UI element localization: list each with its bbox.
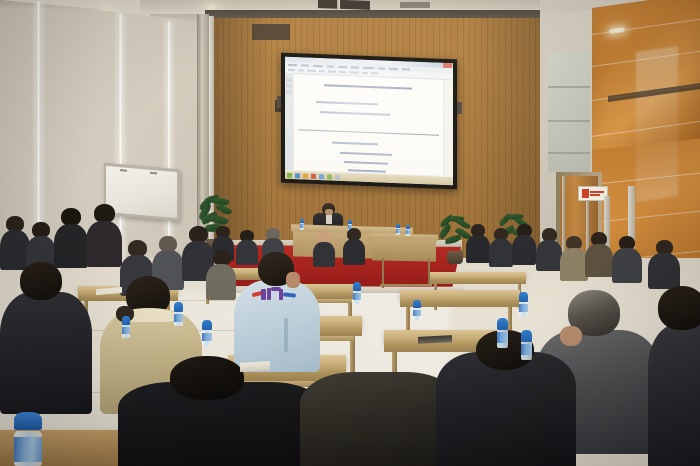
water-bottle: [122, 316, 130, 338]
sm-logo: [252, 286, 298, 302]
presenter-shirt: [326, 214, 332, 224]
attendee: [612, 236, 642, 282]
attendee-blue-jacket: [226, 252, 322, 370]
attendee: [489, 228, 513, 266]
sign-text-lines: [590, 191, 604, 195]
water-bottle: [497, 318, 508, 348]
slide-text-line: [320, 111, 390, 116]
slide-text-line: [324, 84, 412, 90]
whiteboard-clip-icon: [150, 172, 157, 175]
attendee-dark-suit: [0, 262, 96, 412]
water-bottle: [396, 224, 400, 235]
podium-stretcher: [380, 284, 432, 286]
attendee: [466, 224, 490, 262]
back-wall-dark-panel: [252, 24, 290, 40]
attendee: [512, 224, 536, 264]
projection-screen[interactable]: [285, 57, 453, 185]
water-bottle: [174, 302, 183, 326]
photo-scene: [0, 0, 700, 466]
attendee-desk: [430, 272, 526, 279]
slide-text-line: [344, 161, 388, 165]
attendee: [536, 228, 562, 270]
water-bottle: [353, 282, 361, 304]
sign-icon: [582, 189, 589, 198]
water-bottle: [202, 320, 212, 346]
water-bottle: [519, 292, 528, 316]
attendee-desk: [400, 290, 520, 300]
attendee: [648, 240, 680, 288]
slide-divider: [298, 129, 439, 135]
right-wall-glass-panel: [548, 52, 590, 172]
attendee: [86, 204, 122, 264]
glass-mullion: [548, 120, 590, 122]
glass-mullion: [548, 152, 590, 154]
water-bottle-foreground: [14, 412, 42, 466]
water-bottle: [521, 330, 532, 360]
attendee: [560, 236, 588, 280]
attendee: [585, 232, 613, 276]
water-bottle: [406, 225, 410, 236]
slide-text-line: [340, 152, 392, 156]
water-bottle: [413, 300, 421, 320]
whiteboard-clip-icon: [120, 169, 127, 172]
slide-text-line: [348, 169, 386, 173]
air-vent-secondary-icon: [400, 2, 430, 8]
slide-side-rail: [285, 74, 293, 170]
glass-mullion: [548, 86, 590, 88]
attendee-dark-suit: [648, 286, 700, 466]
orange-panel-reflection: [636, 46, 678, 202]
blind-light-gap: [167, 22, 171, 270]
attendee: [343, 228, 365, 264]
presenter-face: [325, 209, 333, 215]
slide-text-line: [316, 101, 378, 106]
water-bottle: [300, 219, 304, 230]
slide-document-page: [294, 74, 443, 176]
foreground-silhouette: [118, 356, 328, 466]
attendee: [54, 208, 88, 266]
slide-text-line: [332, 142, 378, 146]
